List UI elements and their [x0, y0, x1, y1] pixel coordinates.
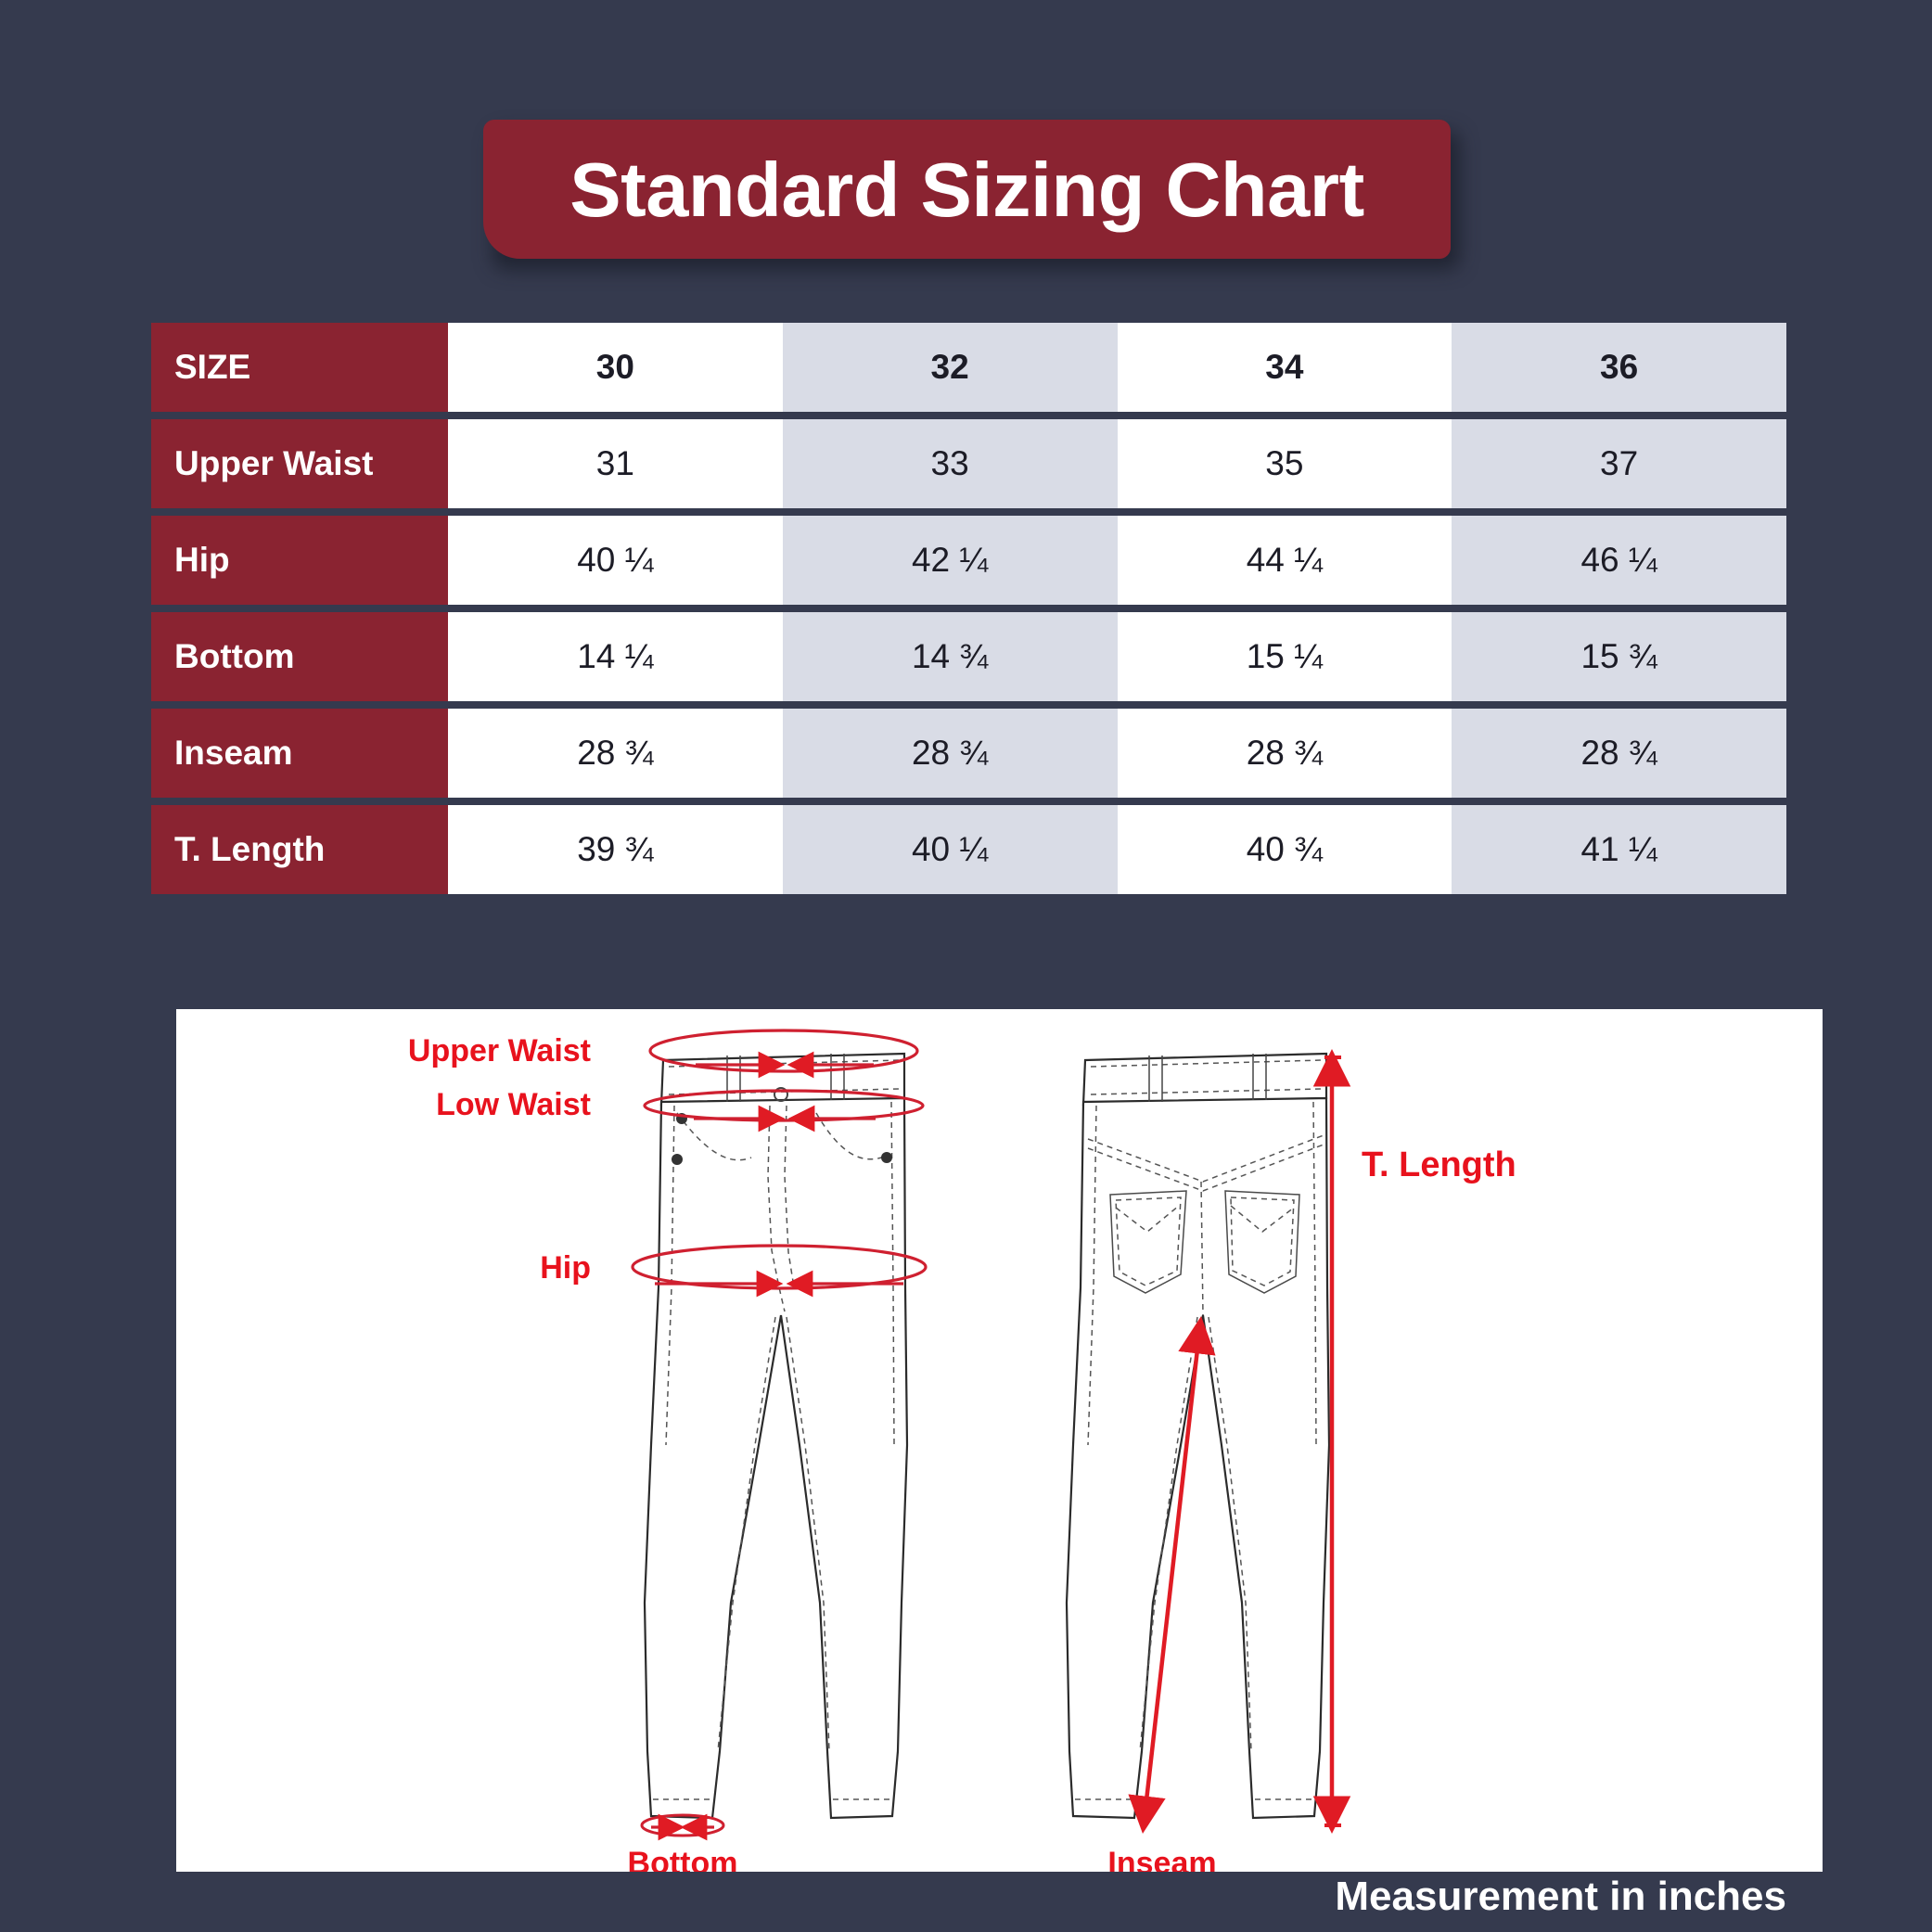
- cell-t-length-36: 41 ¼: [1452, 805, 1786, 894]
- cell-bottom-32: 14 ¾: [783, 612, 1118, 701]
- row-label-hip: Hip: [151, 516, 448, 605]
- row-label-upper-waist: Upper Waist: [151, 419, 448, 508]
- cell-bottom-30: 14 ¼: [448, 612, 783, 701]
- cell-inseam-32: 28 ¾: [783, 709, 1118, 798]
- label-low-waist: Low Waist: [436, 1087, 591, 1122]
- table-row: Hip 40 ¼ 42 ¼ 44 ¼ 46 ¼: [151, 516, 1786, 605]
- rivet-icon: [881, 1152, 892, 1163]
- table-header-size-34: 34: [1118, 323, 1452, 412]
- table-row: Inseam 28 ¾ 28 ¾ 28 ¾ 28 ¾: [151, 709, 1786, 798]
- cell-upper-waist-30: 31: [448, 419, 783, 508]
- title-banner-wrapper: Standard Sizing Chart: [483, 120, 1451, 259]
- label-upper-waist: Upper Waist: [408, 1033, 591, 1068]
- cell-inseam-34: 28 ¾: [1118, 709, 1452, 798]
- jeans-back-view: [1067, 1054, 1329, 1818]
- cell-t-length-34: 40 ¾: [1118, 805, 1452, 894]
- measurement-unit-note: Measurement in inches: [1335, 1874, 1786, 1920]
- table-header-row: SIZE 30 32 34 36: [151, 323, 1786, 412]
- cell-bottom-34: 15 ¼: [1118, 612, 1452, 701]
- cell-upper-waist-34: 35: [1118, 419, 1452, 508]
- sizing-table: SIZE 30 32 34 36 Upper Waist 31 33 35 37…: [151, 323, 1786, 894]
- table-row: T. Length 39 ¾ 40 ¼ 40 ¾ 41 ¼: [151, 805, 1786, 894]
- cell-hip-36: 46 ¼: [1452, 516, 1786, 605]
- cell-hip-30: 40 ¼: [448, 516, 783, 605]
- table-header-size-30: 30: [448, 323, 783, 412]
- table-header-size-32: 32: [783, 323, 1118, 412]
- label-hip: Hip: [540, 1250, 591, 1286]
- title-banner: Standard Sizing Chart: [483, 120, 1451, 259]
- cell-upper-waist-36: 37: [1452, 419, 1786, 508]
- cell-bottom-36: 15 ¾: [1452, 612, 1786, 701]
- cell-hip-32: 42 ¼: [783, 516, 1118, 605]
- sizing-chart-page: Standard Sizing Chart SIZE 30 32 34 36 U…: [0, 0, 1932, 1932]
- bottom-measure: [642, 1815, 723, 1836]
- label-t-length: T. Length: [1362, 1145, 1516, 1184]
- table-header-size-label: SIZE: [151, 323, 448, 412]
- cell-hip-34: 44 ¼: [1118, 516, 1452, 605]
- cell-t-length-32: 40 ¼: [783, 805, 1118, 894]
- row-label-t-length: T. Length: [151, 805, 448, 894]
- cell-inseam-30: 28 ¾: [448, 709, 783, 798]
- jeans-measurement-illustration: Upper Waist Low Waist Hip Bottom: [176, 1009, 1823, 1872]
- page-title: Standard Sizing Chart: [569, 151, 1363, 228]
- cell-inseam-36: 28 ¾: [1452, 709, 1786, 798]
- row-label-inseam: Inseam: [151, 709, 448, 798]
- cell-t-length-30: 39 ¾: [448, 805, 783, 894]
- table-row: Bottom 14 ¼ 14 ¾ 15 ¼ 15 ¾: [151, 612, 1786, 701]
- table-row: Upper Waist 31 33 35 37: [151, 419, 1786, 508]
- jeans-front-view: [645, 1054, 907, 1818]
- footer-note-wrapper: Measurement in inches: [0, 1861, 1932, 1932]
- table-header-size-36: 36: [1452, 323, 1786, 412]
- row-label-bottom: Bottom: [151, 612, 448, 701]
- rivet-icon: [672, 1154, 683, 1165]
- cell-upper-waist-32: 33: [783, 419, 1118, 508]
